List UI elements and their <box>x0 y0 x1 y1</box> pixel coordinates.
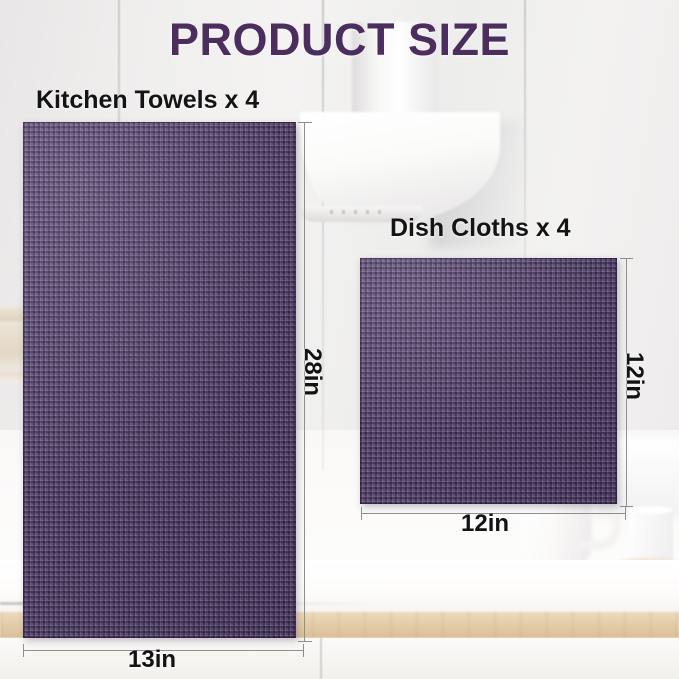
cloth-height-label: 12in <box>620 352 648 400</box>
dish-cloth-swatch <box>360 258 617 504</box>
towel-width-tick-right <box>303 644 304 657</box>
lower-cabinet-seam <box>320 638 322 679</box>
cabinet-seam-mid <box>322 0 324 470</box>
cloth-width-tick-right <box>625 507 626 520</box>
towel-width-label: 13in <box>128 646 176 674</box>
cloth-width-label: 12in <box>461 510 509 538</box>
product-label-dish-cloths: Dish Cloths x 4 <box>390 214 571 243</box>
range-hood-vents <box>330 210 390 214</box>
cloth-height-tick-top <box>620 258 633 259</box>
glass-rim <box>629 506 673 514</box>
product-size-infographic: PRODUCT SIZE Kitchen Towels x 4 28in 13i… <box>0 0 679 679</box>
lower-cabinets <box>0 638 679 679</box>
towel-height-label: 28in <box>298 348 326 396</box>
product-label-kitchen-towels: Kitchen Towels x 4 <box>36 86 259 115</box>
towel-width-tick-left <box>23 644 24 657</box>
towel-height-tick-top <box>298 122 312 123</box>
towel-height-tick-bottom <box>298 641 312 642</box>
kitchen-towel-swatch <box>23 122 296 638</box>
page-title: PRODUCT SIZE <box>0 14 679 66</box>
cloth-width-tick-left <box>361 507 362 520</box>
cloth-height-tick-bottom <box>620 506 633 507</box>
